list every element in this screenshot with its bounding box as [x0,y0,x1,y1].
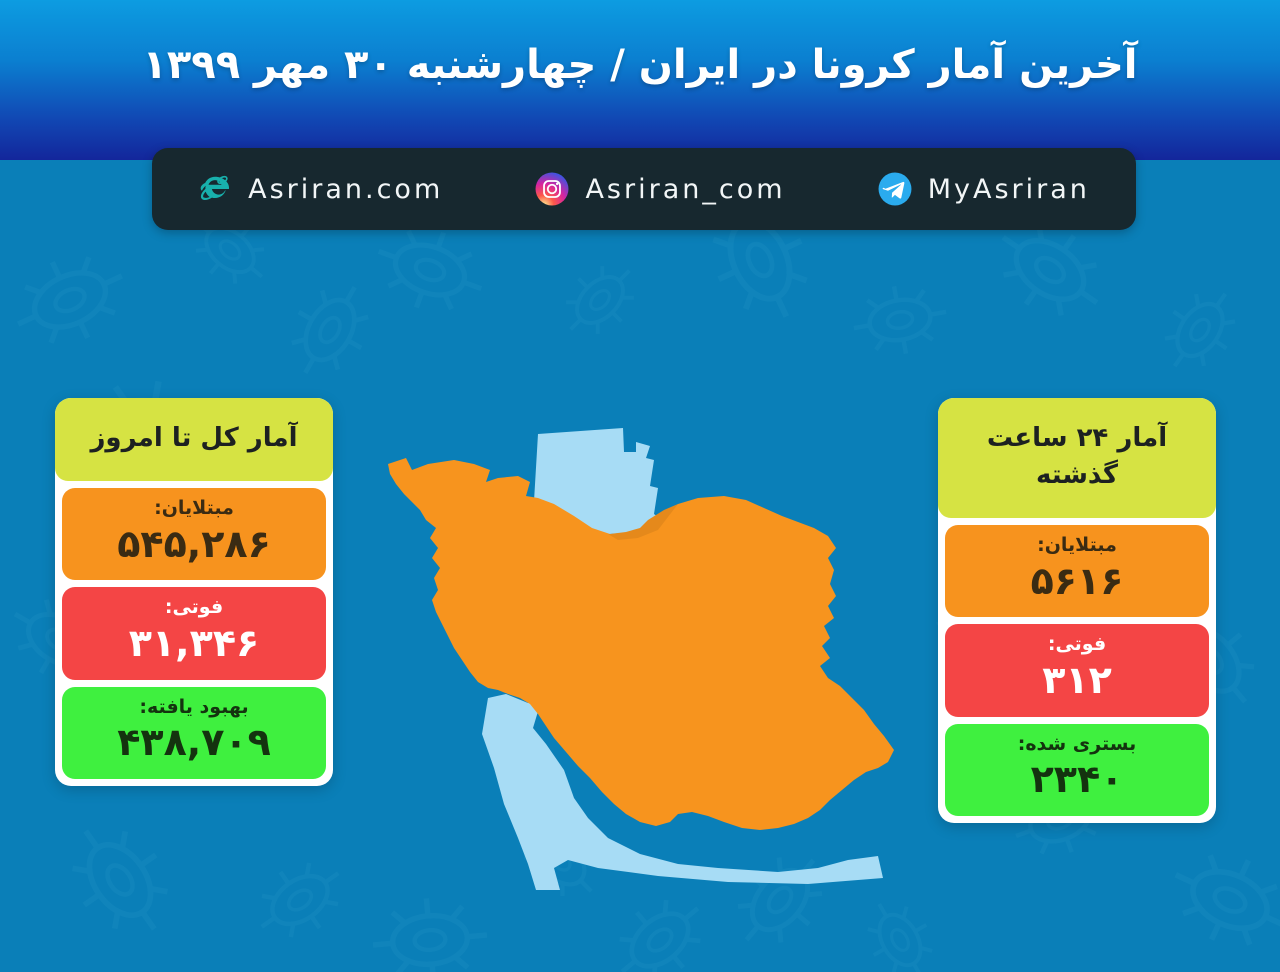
stat-row-daily-deaths: فوتی: ۳۱۲ [945,624,1209,716]
stat-row-total-deaths: فوتی: ۳۱,۳۴۶ [62,587,326,679]
stat-value-total-cases: ۵۴۵,۲۸۶ [72,522,316,568]
stat-row-total-cases: مبتلایان: ۵۴۵,۲۸۶ [62,488,326,580]
stat-value-total-recovered: ۴۳۸,۷۰۹ [72,720,316,766]
stat-value-daily-cases: ۵۶۱۶ [955,559,1199,605]
stat-label-daily-deaths: فوتی: [955,633,1199,657]
stat-card-daily-title: آمار ۲۴ ساعت گذشته [938,398,1216,518]
social-label-website: Asriran.com [248,174,443,205]
stat-label-daily-hospitalized: بستری شده: [955,733,1199,757]
iran-map [378,398,902,898]
social-link-website[interactable]: Asriran.com [198,172,443,206]
stat-label-daily-cases: مبتلایان: [955,534,1199,558]
social-label-telegram: MyAsriran [928,174,1090,205]
stat-card-total: آمار کل تا امروز مبتلایان: ۵۴۵,۲۸۶ فوتی:… [55,398,333,786]
stat-value-total-deaths: ۳۱,۳۴۶ [72,621,316,667]
stat-value-daily-hospitalized: ۲۳۴۰ [955,757,1199,803]
social-link-telegram[interactable]: MyAsriran [878,172,1090,206]
internet-explorer-icon [198,172,232,206]
header-band: آخرین آمار کرونا در ایران / چهارشنبه ۳۰ … [0,0,1280,160]
social-label-instagram: Asriran_com [585,174,785,205]
social-links-bar: Asriran.com Asriran_com MyAsriran [152,148,1136,230]
stat-label-total-deaths: فوتی: [72,596,316,620]
social-link-instagram[interactable]: Asriran_com [535,172,785,206]
stat-label-total-cases: مبتلایان: [72,497,316,521]
stat-row-total-recovered: بهبود یافته: ۴۳۸,۷۰۹ [62,687,326,779]
instagram-icon [535,172,569,206]
stat-card-total-title: آمار کل تا امروز [55,398,333,481]
page-title: آخرین آمار کرونا در ایران / چهارشنبه ۳۰ … [0,42,1280,88]
stat-row-daily-cases: مبتلایان: ۵۶۱۶ [945,525,1209,617]
telegram-icon [878,172,912,206]
stat-card-daily: آمار ۲۴ ساعت گذشته مبتلایان: ۵۶۱۶ فوتی: … [938,398,1216,823]
stat-row-daily-hospitalized: بستری شده: ۲۳۴۰ [945,724,1209,816]
stat-value-daily-deaths: ۳۱۲ [955,658,1199,704]
stat-label-total-recovered: بهبود یافته: [72,696,316,720]
